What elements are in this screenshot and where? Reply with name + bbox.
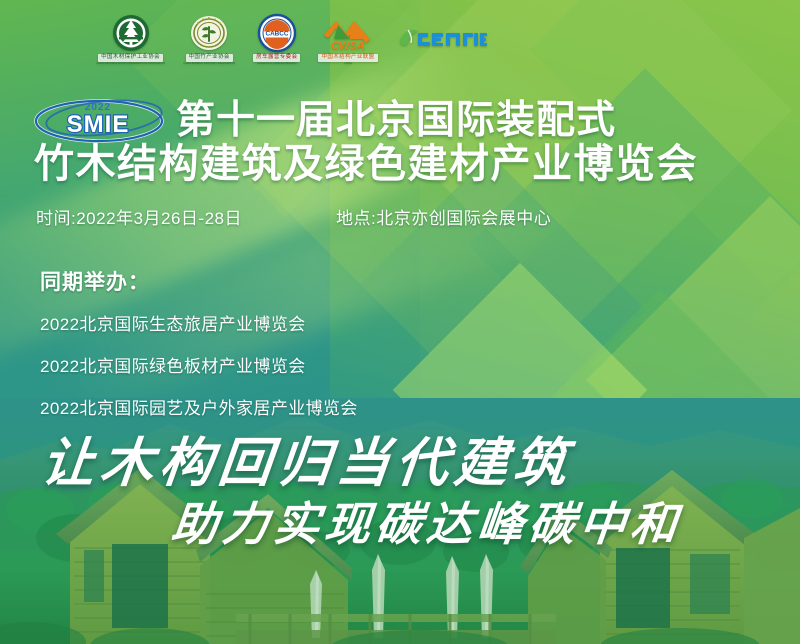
logo-china-wood-protection-industry-association[interactable]: 中国木材保护工业协会 CHINA NATIONAL WOOD PRESERVAT… <box>96 13 165 65</box>
logo-senmei[interactable] <box>396 24 490 54</box>
event-info-row: 时间:2022年3月26日-28日 地点:北京亦创国际会展中心 <box>36 204 656 229</box>
pine-tree-shield-icon <box>111 13 151 53</box>
concurrent-event-item: 2022北京国际绿色板材产业博览会 <box>40 352 358 377</box>
concurrent-events-block: 同期举办： 2022北京国际生态旅居产业博览会 2022北京国际绿色板材产业博览… <box>40 266 358 436</box>
bamboo-seal-icon <box>189 13 229 53</box>
logo-cabcc-rv-camping-committee[interactable]: CABCC 房车露营专委会 CHINA RV & CAMPING BRANCH <box>253 13 300 65</box>
sponsor-logo-strip: 中国木材保护工业协会 CHINA NATIONAL WOOD PRESERVAT… <box>0 8 800 70</box>
svg-text:SMIE: SMIE <box>67 111 130 138</box>
house-roof-cwsa-icon: CWSA <box>320 13 376 53</box>
svg-text:CWSA: CWSA <box>331 40 365 52</box>
logo-label: 房车露营专委会 <box>253 54 300 62</box>
logo-bamboo-industry-association[interactable]: 中国竹产业协会 CHINA BAMBOO INDUSTRY ASSOCIATIO… <box>183 13 235 65</box>
smie-ellipse-logo: 2022 SMIE <box>32 96 166 144</box>
logo-sublabel: CHINA RV & CAMPING BRANCH <box>257 62 296 65</box>
logo-sublabel: CWSA <box>344 62 352 65</box>
event-place: 地点:北京亦创国际会展中心 <box>336 204 551 229</box>
cabcc-roundel-icon: CABCC <box>257 13 297 53</box>
logo-label: 中国木材保护工业协会 <box>98 54 163 62</box>
concurrent-event-item: 2022北京国际园艺及户外家居产业博览会 <box>40 394 358 419</box>
logo-sublabel: CHINA NATIONAL WOOD PRESERVATION ASSOCIA… <box>96 62 165 65</box>
slogan-line1: 让木构回归当代建筑 <box>38 421 577 497</box>
exhibition-poster: 中国木材保护工业协会 CHINA NATIONAL WOOD PRESERVAT… <box>0 0 800 644</box>
logo-label: 中国竹产业协会 <box>186 54 233 62</box>
slogan-line2: 助力实现碳达峰碳中和 <box>169 488 686 554</box>
logo-sublabel: CHINA BAMBOO INDUSTRY ASSOCIATION <box>183 62 235 65</box>
senmei-leaf-wordmark-icon <box>396 24 490 54</box>
concurrent-event-item: 2022北京国际生态旅居产业博览会 <box>40 310 358 335</box>
svg-text:CABCC: CABCC <box>265 31 288 38</box>
page-title-line2: 竹木结构建筑及绿色建材产业博览会 <box>34 144 698 184</box>
page-title-line1: 第十一届北京国际装配式 <box>176 101 616 140</box>
logo-cwsa-china-wood-structure-alliance[interactable]: CWSA 中国木结构产业联盟 CWSA <box>318 13 377 65</box>
logo-label: 中国木结构产业联盟 <box>318 54 377 62</box>
concurrent-heading: 同期举办： <box>40 266 358 296</box>
event-time: 时间:2022年3月26日-28日 <box>36 204 336 229</box>
main-title-row: 2022 SMIE 第十一届北京国际装配式 <box>32 96 616 144</box>
